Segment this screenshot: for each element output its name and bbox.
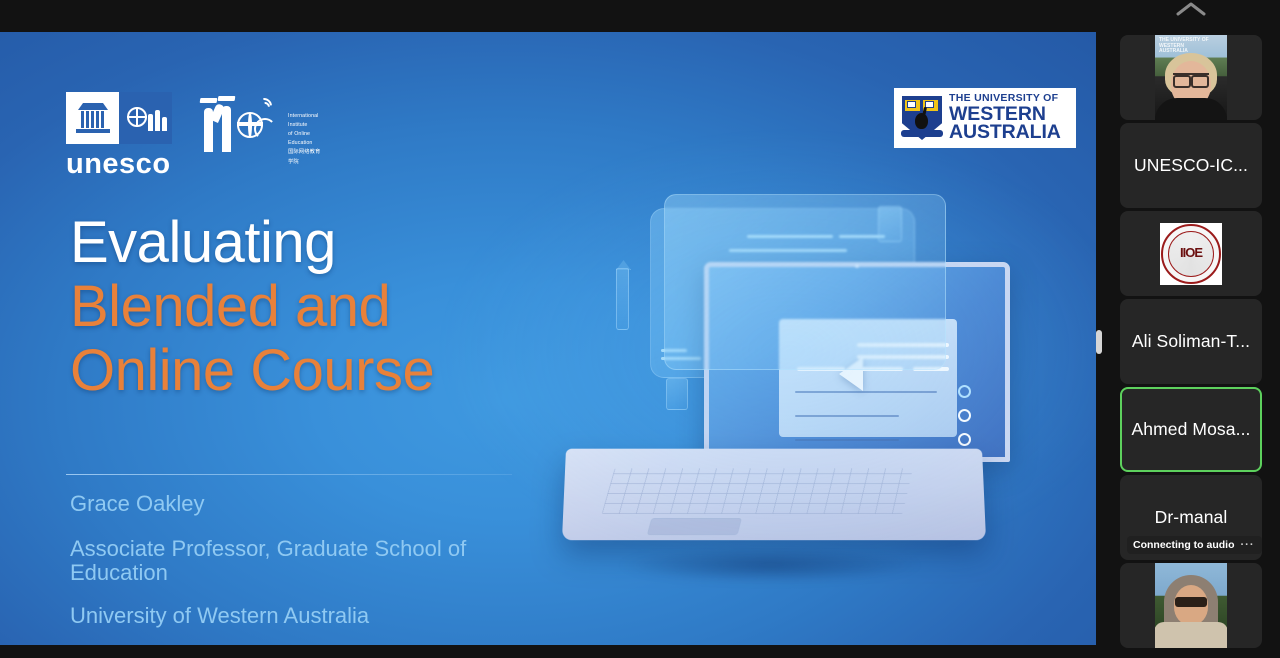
participant-tile-7[interactable] — [1120, 563, 1262, 648]
shared-screen-stage[interactable]: unesco International Instit — [0, 32, 1096, 645]
presenter-name: Grace Oakley — [70, 490, 540, 519]
seal-letters: IIOE — [1180, 248, 1202, 258]
iioe-seal-icon: IIOE — [1161, 224, 1221, 284]
participant-name-6: Dr-manal — [1149, 507, 1234, 528]
iioe-logo-icon: International Institute of Online Educat… — [192, 96, 324, 158]
slide-title: Evaluating Blended and Online Course — [70, 214, 434, 400]
participant-filmstrip: THE UNIVERSITY OFWESTERNAUSTRALIA UNESCO… — [1102, 0, 1280, 658]
title-line-3: Online Course — [70, 342, 434, 400]
pencil-shape — [616, 268, 629, 330]
participant-tile-list: THE UNIVERSITY OFWESTERNAUSTRALIA UNESCO… — [1102, 35, 1280, 651]
loading-dots-icon: ··· — [1241, 539, 1255, 551]
laptop-illustration — [520, 190, 1096, 620]
chevron-up-icon[interactable] — [1169, 2, 1213, 22]
unesco-wordmark: unesco — [66, 148, 171, 181]
unesco-temple-icon — [76, 103, 110, 133]
presenter-organisation: University of Western Australia — [70, 602, 540, 631]
participant-tile-4[interactable]: Ali Soliman-T... — [1120, 299, 1262, 384]
quiz-options-list — [795, 387, 971, 457]
participant-tile-3[interactable]: IIOE — [1120, 211, 1262, 296]
participant-name-5: Ahmed Mosa... — [1126, 419, 1257, 440]
participant-tile-2[interactable]: UNESCO-IC... — [1120, 123, 1262, 208]
participant-tile-1[interactable]: THE UNIVERSITY OFWESTERNAUSTRALIA — [1120, 35, 1262, 120]
panel-resize-handle[interactable] — [1096, 330, 1102, 354]
participant-tile-6[interactable]: Dr-manal Connecting to audio ··· — [1120, 475, 1262, 560]
participant-tile-5-active-speaker[interactable]: Ahmed Mosa... — [1120, 387, 1262, 472]
video-conference-window: unesco International Instit — [0, 0, 1280, 658]
participant-name-4: Ali Soliman-T... — [1126, 331, 1256, 352]
title-divider — [66, 474, 512, 475]
glass-overlay-pane — [664, 194, 946, 370]
iioe-mark-icon — [192, 96, 284, 154]
uwa-shield-icon — [902, 96, 942, 140]
presenter-role: Associate Professor, Graduate School of … — [70, 537, 540, 586]
laptop-keyboard-base — [562, 449, 986, 541]
title-line-2: Blended and — [70, 278, 434, 336]
trackpad — [647, 518, 742, 535]
keyboard-keys — [602, 468, 913, 514]
presentation-slide[interactable]: unesco International Instit — [0, 32, 1096, 645]
unesco-people-globe-icon — [126, 103, 166, 133]
uwa-logo-icon: THE UNIVERSITY OF WESTERN AUSTRALIA — [894, 88, 1076, 148]
book-shape-left — [666, 378, 688, 410]
participant-name-2: UNESCO-IC... — [1128, 155, 1254, 176]
connecting-to-audio-badge: Connecting to audio ··· — [1127, 536, 1262, 554]
unesco-logo-icon — [66, 92, 172, 144]
badge-text: Connecting to audio — [1133, 539, 1235, 551]
iioe-name-text: International Institute of Online Educat… — [288, 112, 324, 167]
laptop-drop-shadow — [560, 540, 980, 590]
iioe-seal-avatar: IIOE — [1160, 223, 1222, 285]
video-frame: THE UNIVERSITY OFWESTERNAUSTRALIA — [1155, 35, 1227, 120]
title-line-1: Evaluating — [70, 214, 434, 272]
uwa-wordmark: THE UNIVERSITY OF WESTERN AUSTRALIA — [949, 93, 1061, 143]
participant-video-7 — [1155, 563, 1227, 648]
participant-video-1: THE UNIVERSITY OFWESTERNAUSTRALIA — [1155, 35, 1227, 120]
video-frame — [1155, 563, 1227, 648]
presenter-details: Grace Oakley Associate Professor, Gradua… — [70, 490, 540, 630]
